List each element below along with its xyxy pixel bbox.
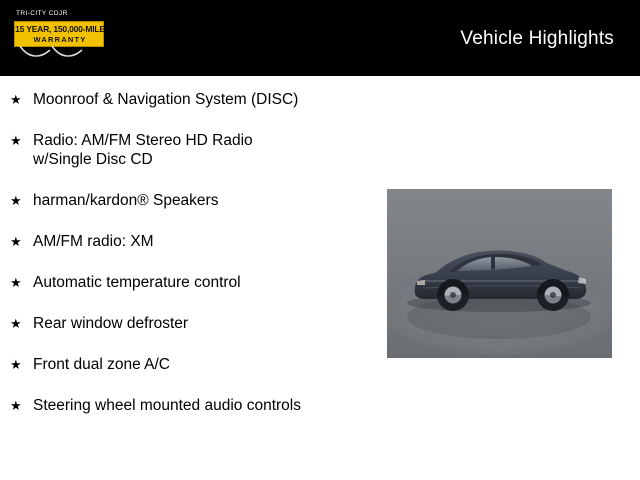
star-icon: ★ bbox=[10, 90, 22, 109]
logo-swoosh-icon bbox=[18, 44, 84, 60]
header-bar: TRI-CITY CDJR 15 YEAR, 150,000-MILE WARR… bbox=[0, 0, 640, 76]
dealer-logo: TRI-CITY CDJR 15 YEAR, 150,000-MILE WARR… bbox=[14, 8, 110, 58]
warranty-badge-line1: 15 YEAR, 150,000-MILE bbox=[15, 24, 105, 34]
list-item: ★ AM/FM radio: XM bbox=[8, 232, 388, 251]
list-item-label: AM/FM radio: XM bbox=[33, 232, 388, 251]
list-item-label: Radio: AM/FM Stereo HD Radio w/Single Di… bbox=[33, 131, 388, 169]
list-item: ★ Moonroof & Navigation System (DISC) bbox=[8, 90, 388, 109]
star-icon: ★ bbox=[10, 131, 22, 150]
warranty-badge-line2: WARRANTY bbox=[15, 35, 105, 44]
list-item-label: harman/kardon® Speakers bbox=[33, 191, 388, 210]
star-icon: ★ bbox=[10, 273, 22, 292]
dealer-name: TRI-CITY CDJR bbox=[16, 10, 68, 17]
feature-list: ★ Moonroof & Navigation System (DISC) ★ … bbox=[8, 90, 388, 437]
list-item: ★ Steering wheel mounted audio controls bbox=[8, 396, 388, 415]
star-icon: ★ bbox=[10, 232, 22, 251]
list-item-label: Moonroof & Navigation System (DISC) bbox=[33, 90, 388, 109]
list-item-label: Front dual zone A/C bbox=[33, 355, 388, 374]
list-item-label: Steering wheel mounted audio controls bbox=[33, 396, 388, 415]
vehicle-photo bbox=[387, 189, 612, 358]
list-item: ★ Rear window defroster bbox=[8, 314, 388, 333]
star-icon: ★ bbox=[10, 355, 22, 374]
slide-page: TRI-CITY CDJR 15 YEAR, 150,000-MILE WARR… bbox=[0, 0, 640, 480]
list-item-label: Automatic temperature control bbox=[33, 273, 388, 292]
vehicle-photo-image bbox=[387, 189, 612, 358]
page-title: Vehicle Highlights bbox=[460, 28, 614, 50]
list-item: ★ harman/kardon® Speakers bbox=[8, 191, 388, 210]
star-icon: ★ bbox=[10, 314, 22, 333]
list-item: ★ Radio: AM/FM Stereo HD Radio w/Single … bbox=[8, 131, 388, 169]
list-item: ★ Automatic temperature control bbox=[8, 273, 388, 292]
star-icon: ★ bbox=[10, 396, 22, 415]
star-icon: ★ bbox=[10, 191, 22, 210]
slide-content: ★ Moonroof & Navigation System (DISC) ★ … bbox=[0, 76, 640, 480]
list-item-label: Rear window defroster bbox=[33, 314, 388, 333]
list-item: ★ Front dual zone A/C bbox=[8, 355, 388, 374]
